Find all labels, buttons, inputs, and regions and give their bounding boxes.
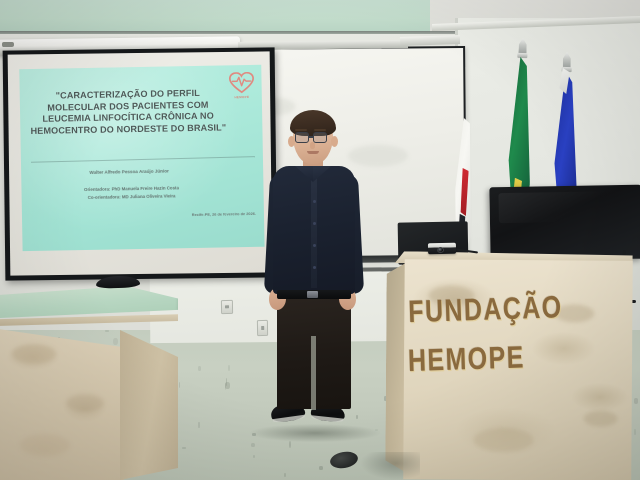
hemope-heart-logo: HEMOPE [228,72,255,102]
projected-slide: HEMOPE "CARACTERIZAÇÃO DO PERFIL MOLECUL… [19,65,264,251]
floor-speckle [225,382,230,389]
shirt-button [313,266,316,269]
floor-speckle [198,366,201,371]
photo-scene: HEMOPE "CARACTERIZAÇÃO DO PERFIL MOLECUL… [0,0,640,480]
ear-left [288,136,295,147]
podium: FUNDAÇÃO HEMOPE [385,251,633,480]
shirt-button [313,244,316,247]
floor-speckle [634,398,638,403]
podium-inscription: FUNDAÇÃO HEMOPE [408,299,619,376]
flag-finial-icon [518,38,527,54]
podium-line-fundacao: FUNDAÇÃO [408,289,619,329]
presenter [255,104,373,434]
heart-pulse-icon [228,72,254,94]
floor-speckle [198,422,199,427]
floor-speckle [179,382,181,388]
shirt-button [313,200,316,203]
screen-surface: HEMOPE "CARACTERIZAÇÃO DO PERFIL MOLECUL… [8,51,273,275]
floor-speckle [634,429,636,435]
eyeglasses-bridge [309,136,314,138]
flag-collar [517,53,527,58]
shirt-button [313,222,316,225]
belt-buckle [307,291,318,298]
shirt-placket [311,176,317,288]
eyeglasses-lens-left [295,132,309,143]
floor-speckle [251,443,255,448]
flag-finial-icon [563,52,571,68]
slide-author: Walter Alfredo Pessoa Araújo Júnior [29,167,229,177]
screen-glare [499,191,606,222]
table-top-surface [0,286,178,338]
flat-screen-television[interactable] [489,185,640,262]
ear-right [331,136,338,147]
nose [310,142,315,149]
slide-date-place: Recife-PE, 26 de fevereiro de 2026. [106,211,256,219]
eyebrow-left [295,129,307,131]
eyeglasses-lens-right [313,132,327,143]
floor-speckle [182,447,186,449]
floor-speckle [228,365,230,372]
screen-housing-endcap [2,42,14,47]
hemope-logo-caption: HEMOPE [229,95,255,99]
floor-speckle [253,455,255,458]
table-side-panel [120,330,178,480]
floor-speckle [319,466,323,470]
eyebrow-right [314,129,326,131]
table-front-panel [0,322,124,480]
projection-screen: HEMOPE "CARACTERIZAÇÃO DO PERFIL MOLECUL… [3,47,278,280]
webcam[interactable] [428,243,456,254]
slide-divider [31,156,255,163]
slide-title: "CARACTERIZAÇÃO DO PERFIL MOLECULAR DOS … [28,87,229,137]
leg-separation [311,336,316,410]
mouth [307,151,319,154]
stone-conference-table [0,286,178,480]
podium-line-hemope: HEMOPE [408,338,619,378]
camera-lens-icon [437,247,444,253]
podium-shadow [360,452,420,480]
floor-speckle [284,473,286,477]
wall-outlet-1[interactable] [221,300,233,314]
